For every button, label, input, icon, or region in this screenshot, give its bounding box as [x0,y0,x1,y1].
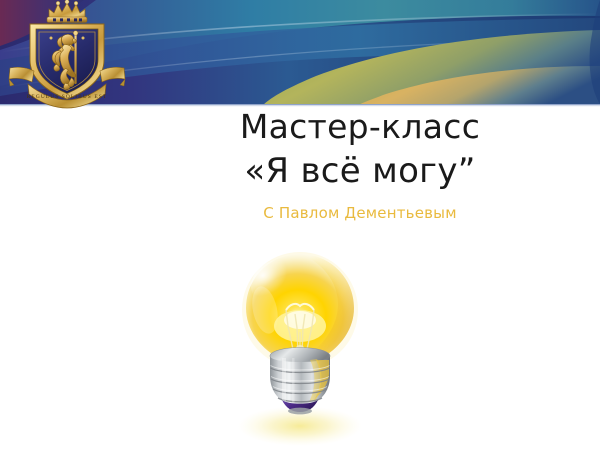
presenter-subtitle: С Павлом Дементьевым [140,204,580,222]
light-bulb-artwork [224,248,376,448]
page-title-line-2: «Я всё могу” [140,149,580,194]
glowing-light-bulb-icon [224,248,376,448]
shield-charge-right [82,37,85,40]
bulb-screw-base [270,348,330,415]
motto-text: REGULUS SOLIBUS EST [27,94,108,100]
crown-icon [47,0,87,22]
slide-canvas: REGULUS SOLIBUS EST Мастер-класс «Я всё … [0,0,600,450]
coat-of-arms-artwork: REGULUS SOLIBUS EST [8,0,126,110]
title-block: Мастер-класс «Я всё могу” С Павлом Демен… [140,104,580,222]
coat-of-arms: REGULUS SOLIBUS EST [8,0,126,110]
page-title-line-1: Мастер-класс [140,104,580,149]
shield-charge-left [50,37,53,40]
